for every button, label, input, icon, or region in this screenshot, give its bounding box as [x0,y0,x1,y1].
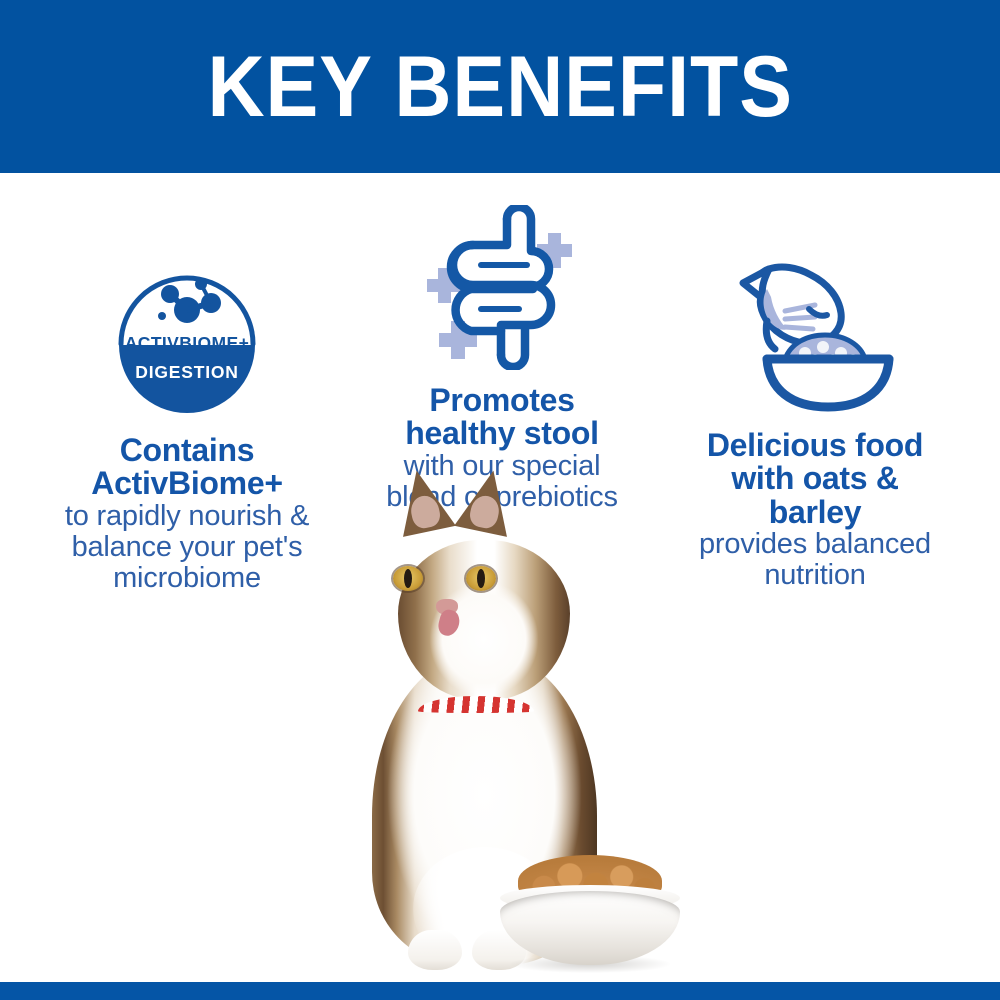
sub-line: microbiome [22,563,352,594]
cat-ear-right [454,465,520,537]
benefit-sub-activbiome: to rapidly nourish & balance your pet's … [22,501,352,595]
bowl-body [500,891,680,965]
page-title: KEY BENEFITS [207,44,793,130]
headline-line: Contains [22,434,352,467]
cat-eating-from-bowl-icon [723,255,908,415]
activbiome-digestion-badge-icon: ACTIVBIOME+ DIGESTION [112,270,262,420]
cat-paw-left [408,930,462,970]
sub-line: balance your pet's [22,532,352,563]
activbiome-icon-wrap: ACTIVBIOME+ DIGESTION [22,255,352,420]
headline-line: healthy stool [352,417,652,450]
food-bowl [500,855,680,965]
headline-line: Promotes [352,384,652,417]
benefit-headline-activbiome: Contains ActivBiome+ [22,434,352,501]
headline-line: ActivBiome+ [22,467,352,500]
cat-eye-right [466,566,496,591]
header-banner: KEY BENEFITS [0,0,1000,173]
benefit-column-healthy-stool: Promotes healthy stool with our special … [352,205,652,513]
badge-top-label: ACTIVBIOME+ [125,333,249,353]
footer-bar [0,982,1000,1000]
cat-head [398,540,570,700]
intestine-icon-wrap [352,205,652,370]
cat-bowl-icon-wrap [650,250,980,415]
cat-photo: Long-haired brown tabby and white cat si… [350,500,700,982]
photo-description: Long-haired brown tabby and white cat si… [350,500,351,501]
sub-line: to rapidly nourish & [22,501,352,532]
badge-bottom-label: DIGESTION [135,362,238,382]
headline-line: Delicious food [650,429,980,462]
benefit-column-activbiome: ACTIVBIOME+ DIGESTION Contains ActivBiom… [22,255,352,594]
headline-line: with oats & [650,462,980,495]
intestine-icon [415,205,590,370]
cat-eye-left [393,566,423,591]
benefit-headline-healthy-stool: Promotes healthy stool [352,384,652,451]
